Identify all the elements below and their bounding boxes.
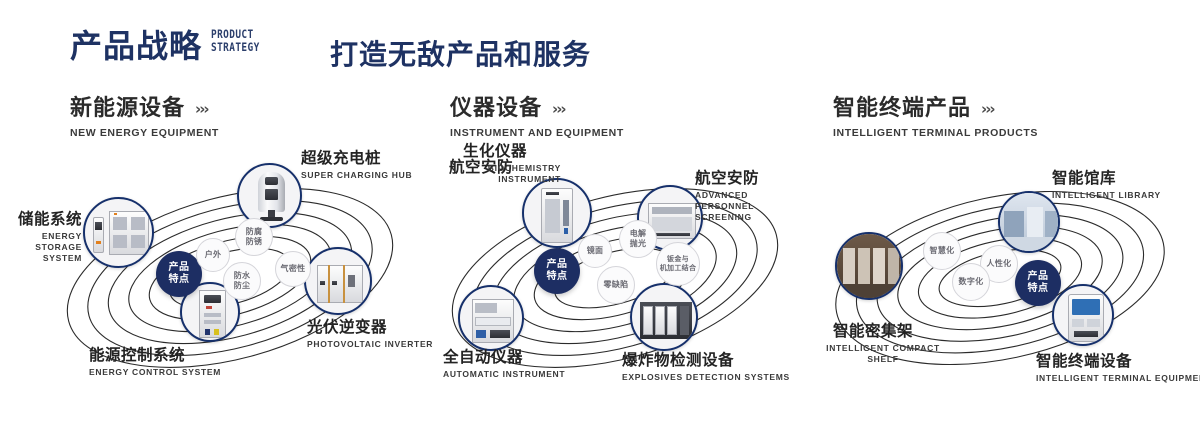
- photo-biochemistry-instrument: [524, 180, 590, 246]
- section-title-text: 新能源设备: [70, 96, 185, 122]
- node-circle-photovoltaic-inverter[interactable]: [304, 247, 372, 315]
- bubble-line1: 防水: [234, 271, 251, 281]
- label-en: INTELLIGENT COMPACT SHELF: [823, 343, 943, 365]
- label-en: EXPLOSIVES DETECTION SYSTEMS: [622, 372, 790, 383]
- bubble-line1: 零缺陷: [604, 280, 629, 290]
- label-intelligent-library: 智能馆库 INTELLIGENT LIBRARY: [1052, 169, 1161, 201]
- label-cn: 全自动仪器: [443, 348, 565, 367]
- node-circle-automatic-instrument[interactable]: [458, 285, 524, 351]
- label-biochemistry-instrument: 生化仪器 BIOCHEMISTRY INSTRUMENT: [463, 142, 561, 185]
- bubble-line2: 机加工结合: [660, 264, 697, 273]
- label-en: ENERGY CONTROL SYSTEM: [89, 367, 221, 378]
- feature-bubble-sheet-metal-machining: 钣金与 机加工结合: [656, 242, 700, 286]
- node-circle-intelligent-library[interactable]: [998, 191, 1060, 253]
- bubble-line2: 抛光: [630, 239, 647, 249]
- badge-line2: 特点: [1028, 283, 1049, 295]
- label-cn: 爆炸物检测设备: [622, 351, 790, 370]
- section-heading-en: INTELLIGENT TERMINAL PRODUCTS: [833, 127, 1038, 139]
- page-title: 产品战略 PRODUCT STRATEGY: [70, 26, 270, 66]
- diagram-group-intelligent-terminal: 智能馆库 INTELLIGENT LIBRARY 智能密集架 INTELLIGE…: [800, 150, 1200, 405]
- node-circle-energy-storage-system[interactable]: [83, 197, 154, 268]
- bubble-line2: 防锈: [246, 237, 263, 247]
- label-en: AUTOMATIC INSTRUMENT: [443, 369, 565, 380]
- node-circle-intelligent-compact-shelf[interactable]: [835, 232, 903, 300]
- badge-line1: 产品: [547, 259, 568, 271]
- section-heading-cn: 仪器设备 ›››: [450, 96, 624, 122]
- label-explosives-detection-systems: 爆炸物检测设备 EXPLOSIVES DETECTION SYSTEMS: [622, 351, 790, 383]
- feature-bubble-anticorrosion: 防腐 防锈: [235, 218, 273, 256]
- photo-photovoltaic-inverter: [306, 249, 370, 313]
- label-automatic-instrument: 全自动仪器 AUTOMATIC INSTRUMENT: [443, 348, 565, 380]
- label-cn: 智能密集架: [803, 322, 943, 341]
- bubble-line1: 户外: [205, 250, 222, 260]
- label-energy-control-system: 能源控制系统 ENERGY CONTROL SYSTEM: [89, 346, 221, 378]
- feature-bubble-waterproof-dustproof: 防水 防尘: [223, 262, 261, 300]
- photo-explosives-detection-systems: [632, 285, 696, 349]
- section-heading-intelligent-terminal: 智能终端产品 ››› INTELLIGENT TERMINAL PRODUCTS: [833, 96, 1038, 139]
- chevron-right-icon: ›››: [981, 96, 994, 122]
- page-title-cn: 产品战略: [70, 26, 202, 66]
- section-heading-en: NEW ENERGY EQUIPMENT: [70, 127, 219, 139]
- label-super-charging-hub: 超级充电桩 SUPER CHARGING HUB: [301, 149, 412, 181]
- bubble-line1: 镜面: [587, 246, 604, 256]
- bubble-line1: 数字化: [959, 277, 984, 287]
- feature-bubble-airtightness: 气密性: [275, 251, 311, 287]
- badge-line2: 特点: [547, 271, 568, 283]
- badge-product-features: 产品 特点: [534, 248, 580, 294]
- section-title-text: 仪器设备: [450, 96, 542, 122]
- chevron-right-icon: ›››: [552, 96, 565, 122]
- label-en: SUPER CHARGING HUB: [301, 170, 412, 181]
- label-cn: 能源控制系统: [89, 346, 221, 365]
- label-cn: 智能终端设备: [1036, 352, 1200, 371]
- label-en: ADVANCED PERSONNEL SCREENING: [695, 190, 790, 223]
- section-heading-instrument: 仪器设备 ››› INSTRUMENT AND EQUIPMENT: [450, 96, 624, 139]
- label-energy-storage-system: 储能系统 ENERGY STORAGE SYSTEM: [0, 210, 82, 264]
- feature-bubble-electrolytic-polishing: 电解 抛光: [619, 220, 657, 258]
- label-cn: 生化仪器: [463, 142, 561, 161]
- node-circle-intelligent-terminal-equipment[interactable]: [1052, 284, 1114, 346]
- page-title-en: PRODUCT STRATEGY: [211, 28, 260, 54]
- bubble-line1: 钣金与: [667, 255, 689, 264]
- label-en: ENERGY STORAGE SYSTEM: [0, 231, 82, 264]
- label-en: INTELLIGENT TERMINAL EQUIPMENT: [1036, 373, 1200, 384]
- bubble-line1: 电解: [630, 229, 647, 239]
- label-intelligent-terminal-equipment: 智能终端设备 INTELLIGENT TERMINAL EQUIPMENT: [1036, 352, 1200, 384]
- photo-intelligent-library: [1000, 193, 1058, 251]
- section-heading-new-energy: 新能源设备 ››› NEW ENERGY EQUIPMENT: [70, 96, 219, 139]
- feature-bubble-zero-defect: 零缺陷: [597, 266, 635, 304]
- label-cn: 智能馆库: [1052, 169, 1161, 188]
- feature-bubble-outdoor: 户外: [196, 238, 230, 272]
- feature-bubble-digitalized: 数字化: [952, 263, 990, 301]
- label-intelligent-compact-shelf: 智能密集架 INTELLIGENT COMPACT SHELF: [803, 322, 943, 365]
- section-heading-cn: 智能终端产品 ›››: [833, 96, 1038, 122]
- label-cn: 储能系统: [0, 210, 82, 229]
- product-strategy-infographic: 产品战略 PRODUCT STRATEGY 打造无敌产品和服务 新能源设备 ››…: [0, 0, 1200, 422]
- node-circle-biochemistry-instrument[interactable]: [522, 178, 592, 248]
- photo-super-charging-hub: [239, 165, 300, 226]
- section-heading-en: INSTRUMENT AND EQUIPMENT: [450, 127, 624, 139]
- bubble-line1: 智慧化: [930, 246, 955, 256]
- photo-intelligent-terminal-equipment: [1054, 286, 1112, 344]
- badge-line1: 产品: [169, 262, 190, 274]
- page-subtitle: 打造无敌产品和服务: [330, 33, 591, 73]
- bubble-line1: 气密性: [281, 264, 306, 274]
- node-circle-explosives-detection-systems[interactable]: [630, 283, 698, 351]
- bubble-line1: 防腐: [246, 227, 263, 237]
- section-heading-cn: 新能源设备 ›››: [70, 96, 219, 122]
- photo-energy-storage-system: [85, 199, 152, 266]
- label-en: BIOCHEMISTRY INSTRUMENT: [463, 163, 561, 185]
- label-cn: 超级充电桩: [301, 149, 412, 168]
- section-title-text: 智能终端产品: [833, 96, 971, 122]
- chevron-right-icon: ›››: [195, 96, 208, 122]
- bubble-line1: 人性化: [987, 259, 1012, 269]
- page-title-en-line2: STRATEGY: [211, 41, 260, 54]
- feature-bubble-intelligent: 智慧化: [923, 232, 961, 270]
- badge-product-features: 产品 特点: [156, 251, 202, 297]
- badge-line1: 产品: [1028, 271, 1049, 283]
- photo-intelligent-compact-shelf: [837, 234, 901, 298]
- diagram-group-instrument: 航空安防 生化仪器 BIOCHEMISTRY INSTRUMENT 航空安防 A…: [415, 150, 815, 405]
- badge-line2: 特点: [169, 274, 190, 286]
- badge-product-features: 产品 特点: [1015, 260, 1061, 306]
- diagram-group-new-energy: 储能系统 ENERGY STORAGE SYSTEM 超级充电桩 SUPER C…: [30, 150, 430, 405]
- label-en: INTELLIGENT LIBRARY: [1052, 190, 1161, 201]
- feature-bubble-mirror-finish: 镜面: [578, 234, 612, 268]
- label-cn: 航空安防: [695, 169, 790, 188]
- photo-automatic-instrument: [460, 287, 522, 349]
- bubble-line2: 防尘: [234, 281, 251, 291]
- label-advanced-personnel-screening: 航空安防 ADVANCED PERSONNEL SCREENING: [695, 169, 790, 223]
